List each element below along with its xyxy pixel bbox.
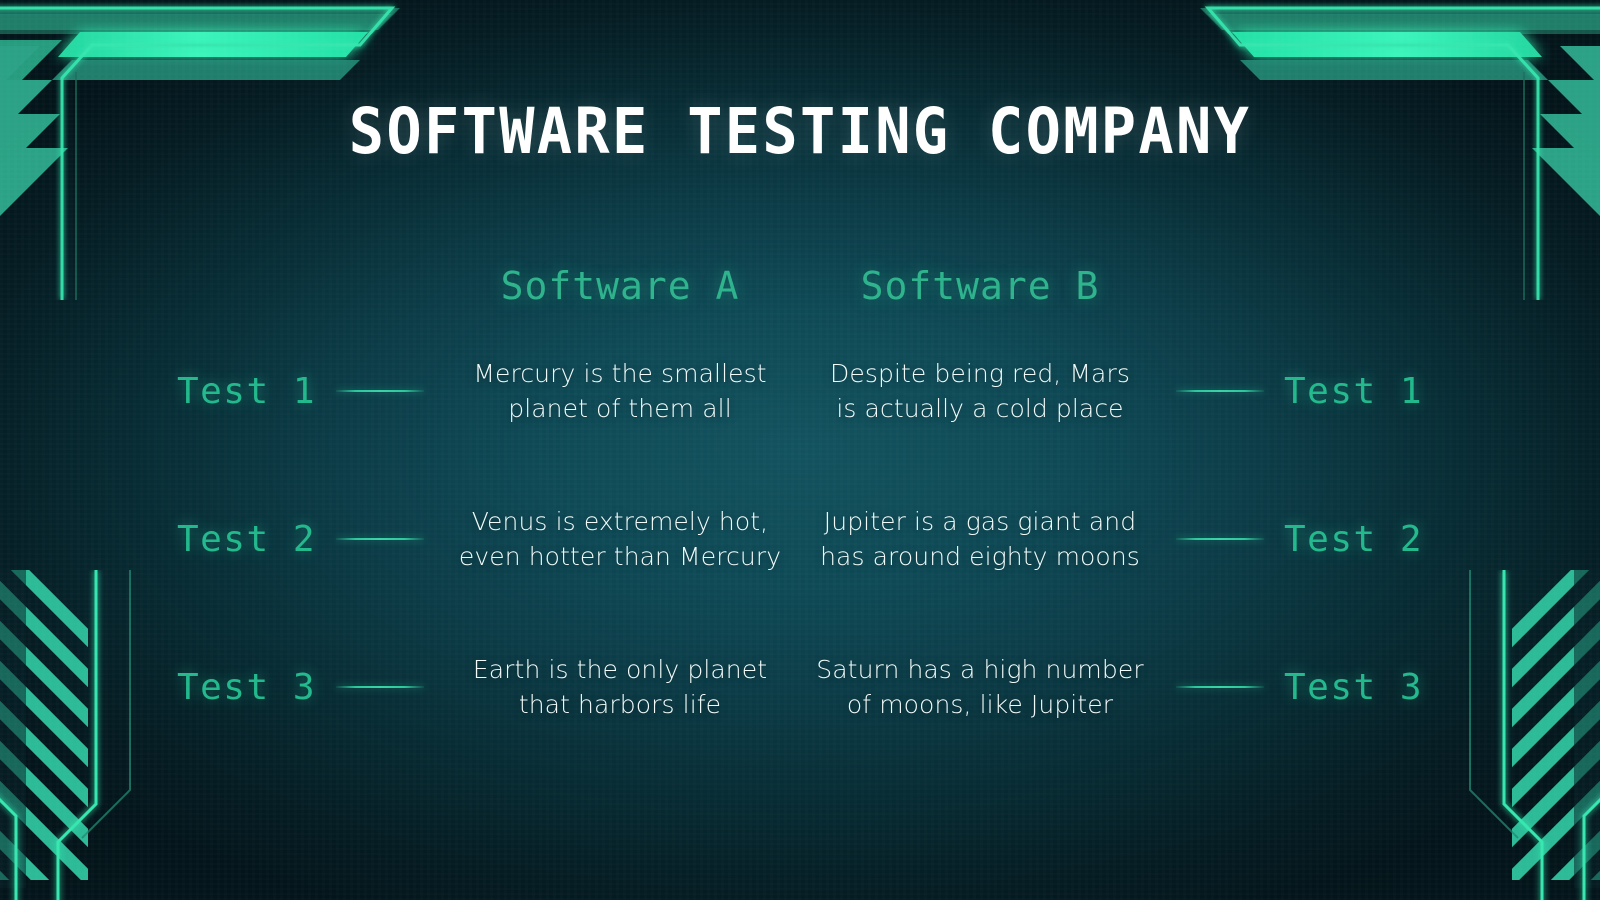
connector-right — [1160, 686, 1280, 688]
connector-right — [1160, 538, 1280, 540]
table-header-row: Software A Software B — [120, 255, 1480, 317]
connector-left — [320, 390, 440, 392]
connector-left — [320, 686, 440, 688]
cell-software-a: Earth is the only planet that harbors li… — [440, 652, 800, 723]
row-label-left: Test 3 — [120, 667, 320, 708]
connector-line-icon — [336, 538, 424, 540]
connector-right — [1160, 390, 1280, 392]
connector-line-icon — [336, 390, 424, 392]
cell-software-a: Mercury is the smallest planet of them a… — [440, 356, 800, 427]
cell-software-b: Despite being red, Mars is actually a co… — [800, 356, 1160, 427]
table-row: Test 1 Mercury is the smallest planet of… — [120, 317, 1480, 465]
row-label-right: Test 2 — [1280, 519, 1480, 560]
row-label-left: Test 1 — [120, 371, 320, 412]
connector-line-icon — [1176, 390, 1264, 392]
slide-content: SOFTWARE TESTING COMPANY Software A Soft… — [0, 0, 1600, 900]
page-title: SOFTWARE TESTING COMPANY — [56, 100, 1544, 163]
column-header-software-a: Software A — [440, 264, 800, 308]
row-label-left: Test 2 — [120, 519, 320, 560]
column-header-software-b: Software B — [800, 264, 1160, 308]
cell-software-a: Venus is extremely hot, even hotter than… — [440, 504, 800, 575]
cell-software-b: Jupiter is a gas giant and has around ei… — [800, 504, 1160, 575]
connector-line-icon — [1176, 686, 1264, 688]
table-row: Test 2 Venus is extremely hot, even hott… — [120, 465, 1480, 613]
row-label-right: Test 1 — [1280, 371, 1480, 412]
comparison-table: Software A Software B Test 1 Mercury is … — [120, 255, 1480, 761]
table-row: Test 3 Earth is the only planet that har… — [120, 613, 1480, 761]
slide-canvas: SOFTWARE TESTING COMPANY Software A Soft… — [0, 0, 1600, 900]
connector-left — [320, 538, 440, 540]
connector-line-icon — [1176, 538, 1264, 540]
connector-line-icon — [336, 686, 424, 688]
row-label-right: Test 3 — [1280, 667, 1480, 708]
cell-software-b: Saturn has a high number of moons, like … — [800, 652, 1160, 723]
